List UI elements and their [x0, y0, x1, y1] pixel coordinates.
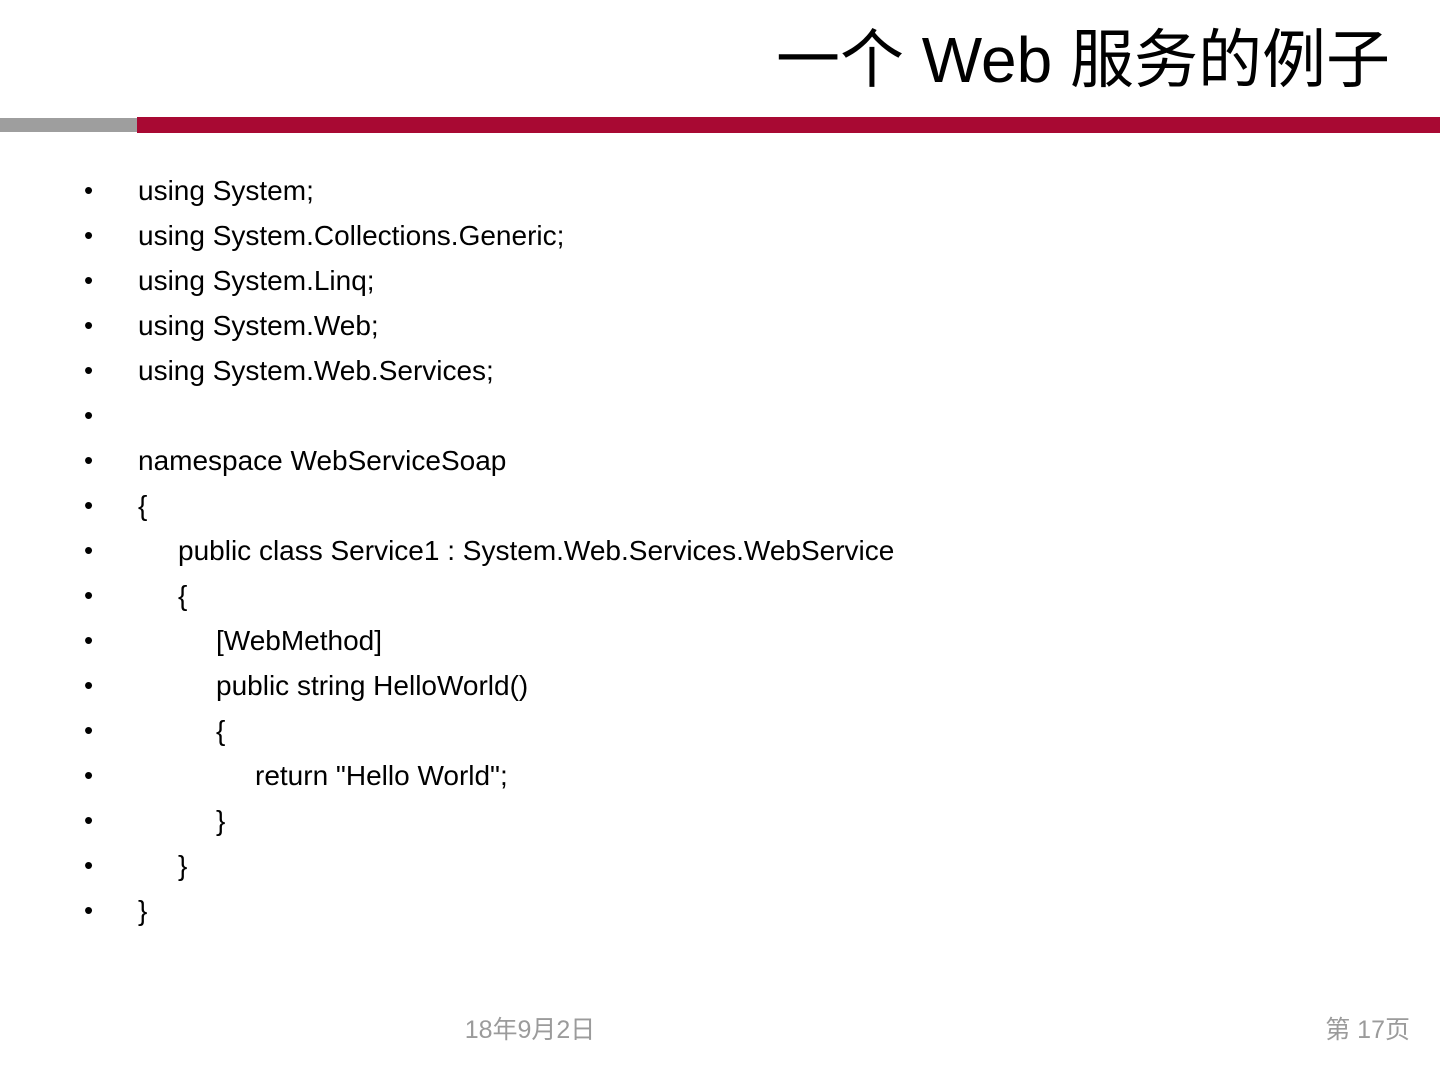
- bullet-icon: •: [84, 798, 98, 843]
- code-line-text: using System.Linq;: [138, 258, 375, 303]
- header-rule-accent: [137, 117, 1440, 133]
- slide-footer: 18年9月2日 第 17页: [0, 1010, 1440, 1056]
- bullet-icon: •: [84, 708, 98, 753]
- code-line: •using System.Web.Services;: [0, 348, 1440, 393]
- bullet-icon: •: [84, 483, 98, 528]
- code-line-text: return "Hello World";: [255, 753, 508, 798]
- bullet-icon: •: [84, 438, 98, 483]
- slide: 一个 Web 服务的例子 •using System;•using System…: [0, 0, 1440, 1080]
- code-line-text: }: [178, 843, 187, 888]
- bullet-icon: •: [84, 393, 98, 438]
- header-rule-gray: [0, 118, 137, 132]
- slide-header: 一个 Web 服务的例子: [0, 0, 1440, 118]
- bullet-icon: •: [84, 753, 98, 798]
- footer-page-number: 第 17页: [1325, 1010, 1410, 1050]
- code-line: •{: [0, 573, 1440, 618]
- code-line-text: using System.Web;: [138, 303, 379, 348]
- code-line-text: {: [138, 483, 147, 528]
- footer-date: 18年9月2日: [330, 1010, 730, 1050]
- bullet-icon: •: [84, 348, 98, 393]
- code-line: •using System.Linq;: [0, 258, 1440, 303]
- code-line: •namespace WebServiceSoap: [0, 438, 1440, 483]
- code-line-text: }: [138, 888, 147, 933]
- bullet-icon: •: [84, 618, 98, 663]
- code-line: •using System;: [0, 168, 1440, 213]
- code-line-text: {: [178, 573, 187, 618]
- bullet-icon: •: [84, 303, 98, 348]
- code-line: •}: [0, 843, 1440, 888]
- code-line: •using System.Collections.Generic;: [0, 213, 1440, 258]
- code-line: •[WebMethod]: [0, 618, 1440, 663]
- code-line: •}: [0, 798, 1440, 843]
- bullet-icon: •: [84, 888, 98, 933]
- bullet-icon: •: [84, 663, 98, 708]
- code-line: •}: [0, 888, 1440, 933]
- code-line: •{: [0, 708, 1440, 753]
- code-bullet-list: •using System;•using System.Collections.…: [0, 168, 1440, 933]
- code-line: •: [0, 393, 1440, 438]
- code-line: •using System.Web;: [0, 303, 1440, 348]
- code-line-text: public class Service1 : System.Web.Servi…: [178, 528, 894, 573]
- code-line-text: using System.Web.Services;: [138, 348, 494, 393]
- code-line-text: namespace WebServiceSoap: [138, 438, 506, 483]
- code-line: •{: [0, 483, 1440, 528]
- code-line-text: using System;: [138, 168, 314, 213]
- code-line-text: using System.Collections.Generic;: [138, 213, 564, 258]
- code-line-text: public string HelloWorld(): [216, 663, 528, 708]
- bullet-icon: •: [84, 168, 98, 213]
- code-line: •public string HelloWorld(): [0, 663, 1440, 708]
- bullet-icon: •: [84, 573, 98, 618]
- code-line: •public class Service1 : System.Web.Serv…: [0, 528, 1440, 573]
- bullet-icon: •: [84, 528, 98, 573]
- code-line-text: [WebMethod]: [216, 618, 382, 663]
- code-line: •return "Hello World";: [0, 753, 1440, 798]
- code-line-text: }: [216, 798, 225, 843]
- code-line-text: {: [216, 708, 225, 753]
- bullet-icon: •: [84, 843, 98, 888]
- bullet-icon: •: [84, 213, 98, 258]
- page-title: 一个 Web 服务的例子: [776, 22, 1390, 98]
- slide-body: •using System;•using System.Collections.…: [0, 168, 1440, 958]
- bullet-icon: •: [84, 258, 98, 303]
